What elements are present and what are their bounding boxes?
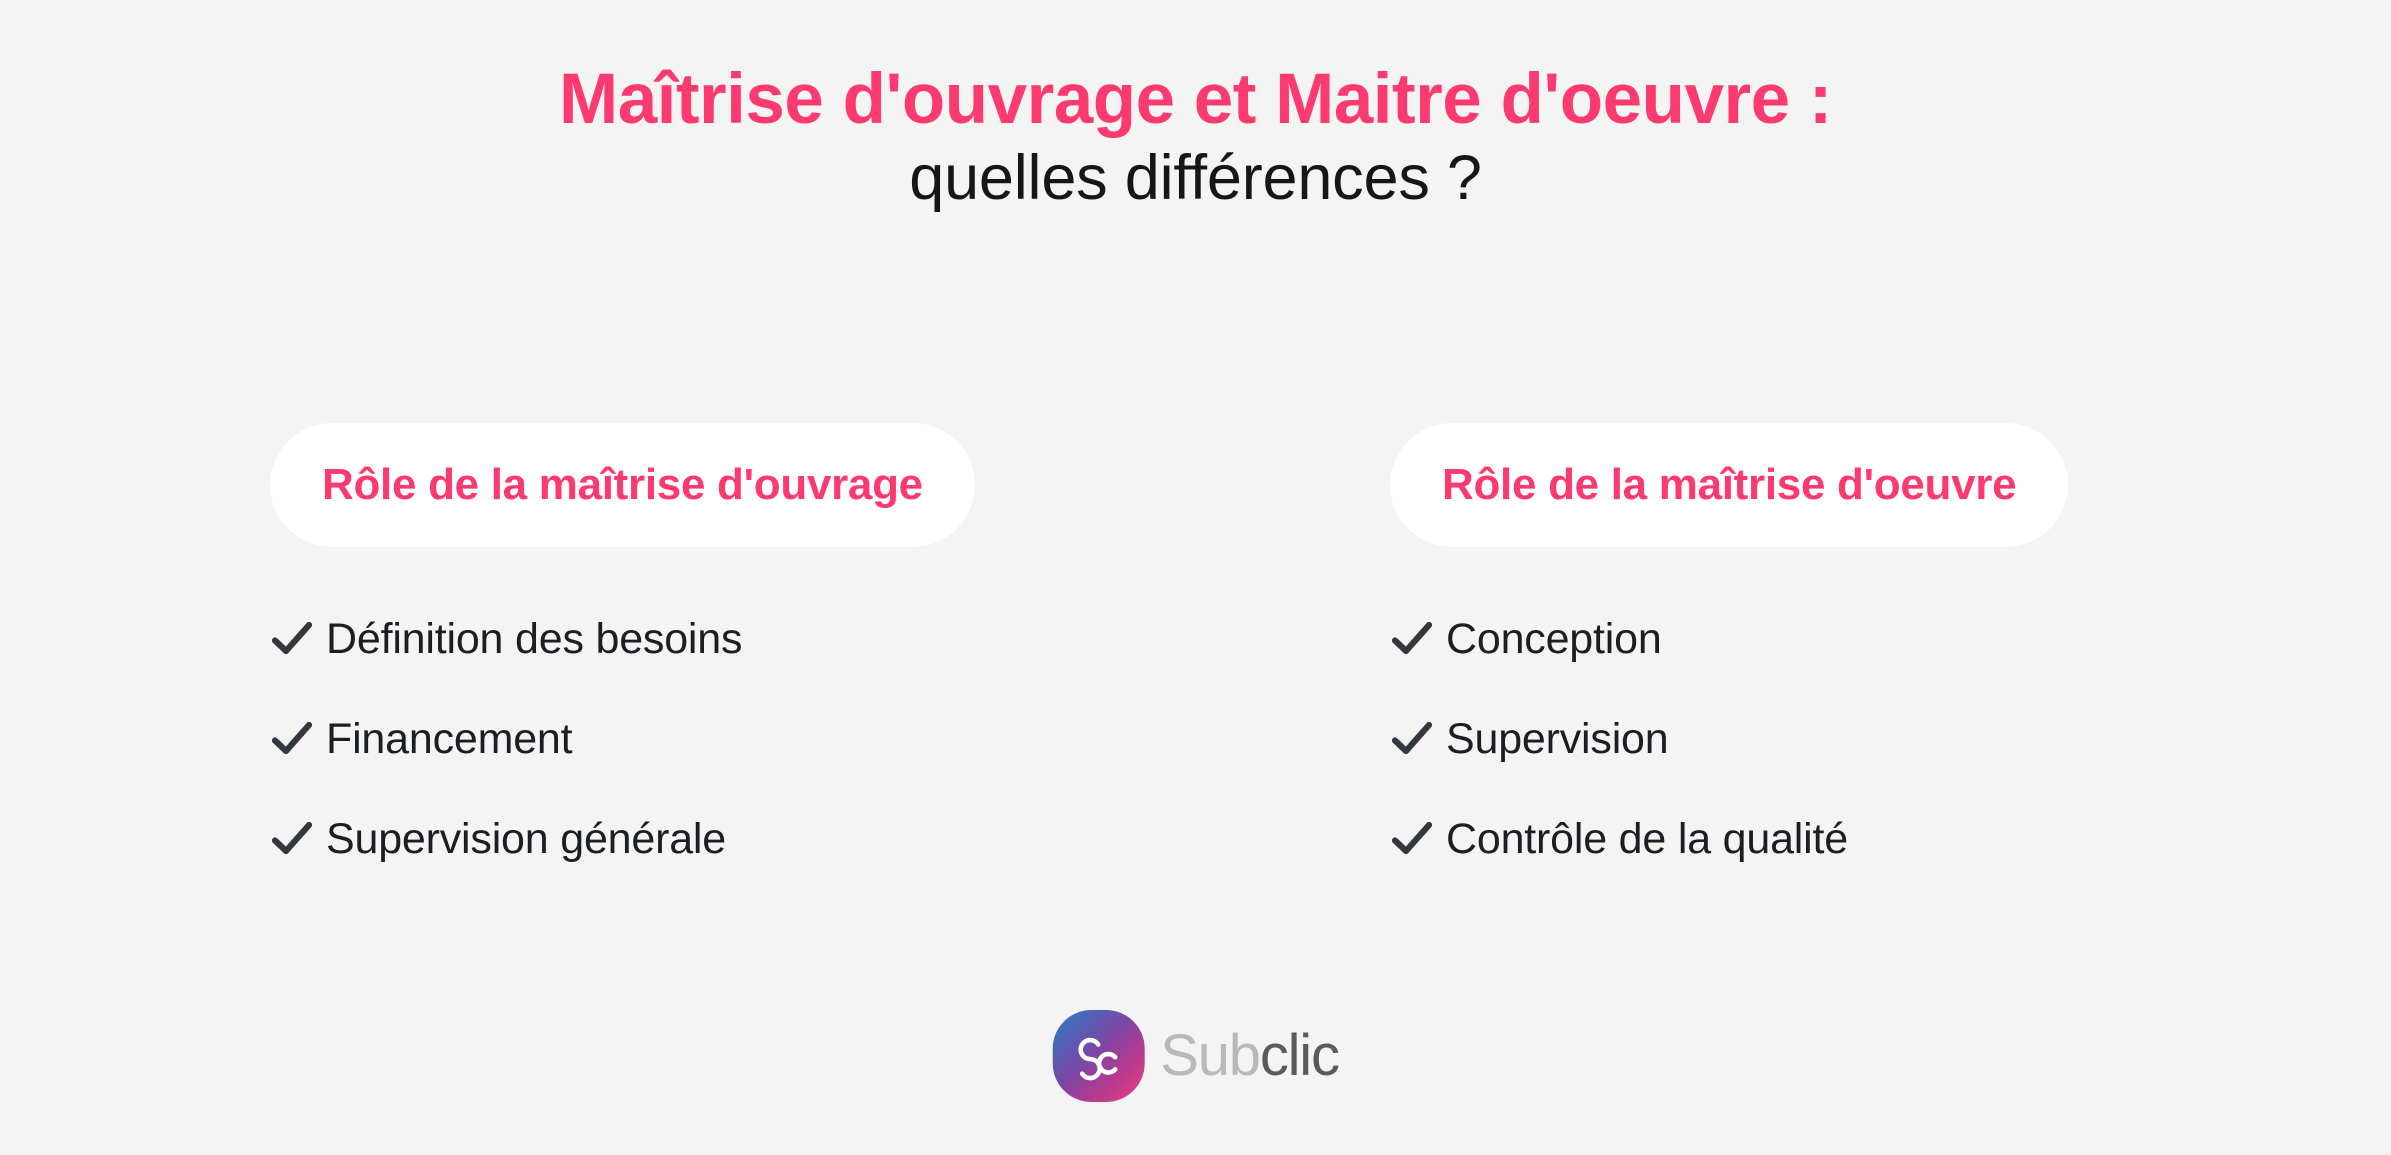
list-item: Financement xyxy=(270,711,1170,767)
column-maitrise-oeuvre: Rôle de la maîtrise d'oeuvre Conception … xyxy=(1390,423,2290,867)
wordmark-sub: Sub xyxy=(1160,1027,1260,1085)
list-item-label: Financement xyxy=(326,718,572,761)
check-icon xyxy=(270,817,314,861)
subclic-sc-monogram-icon xyxy=(1052,1010,1144,1102)
subclic-logo[interactable]: Subclic xyxy=(1052,1010,1339,1102)
list-item-label: Conception xyxy=(1446,618,1662,661)
checklist-maitrise-oeuvre: Conception Supervision Contrôle de la qu… xyxy=(1390,611,2290,867)
check-icon xyxy=(270,717,314,761)
title-line-1: Maîtrise d'ouvrage et Maitre d'oeuvre : xyxy=(0,62,2391,137)
wordmark-clic: clic xyxy=(1260,1027,1339,1085)
check-icon xyxy=(1390,717,1434,761)
checklist-maitrise-ouvrage: Définition des besoins Financement Super… xyxy=(270,611,1170,867)
comparison-columns: Rôle de la maîtrise d'ouvrage Définition… xyxy=(0,423,2391,893)
page-title: Maîtrise d'ouvrage et Maitre d'oeuvre : … xyxy=(0,62,2391,220)
list-item: Définition des besoins xyxy=(270,611,1170,667)
list-item: Conception xyxy=(1390,611,2290,667)
subclic-wordmark: Subclic xyxy=(1160,1027,1339,1085)
pill-label: Rôle de la maîtrise d'oeuvre xyxy=(1442,463,2016,507)
list-item-label: Supervision xyxy=(1446,718,1668,761)
list-item: Supervision générale xyxy=(270,811,1170,867)
infographic-canvas: Maîtrise d'ouvrage et Maitre d'oeuvre : … xyxy=(0,0,2391,1155)
column-maitrise-ouvrage: Rôle de la maîtrise d'ouvrage Définition… xyxy=(270,423,1170,867)
title-colon: : xyxy=(1790,60,1832,139)
check-icon xyxy=(1390,617,1434,661)
list-item-label: Contrôle de la qualité xyxy=(1446,818,1848,861)
list-item-label: Définition des besoins xyxy=(326,618,742,661)
pill-label: Rôle de la maîtrise d'ouvrage xyxy=(322,463,923,507)
title-line-2: quelles différences ? xyxy=(0,137,2391,220)
list-item-label: Supervision générale xyxy=(326,818,726,861)
pill-maitrise-oeuvre[interactable]: Rôle de la maîtrise d'oeuvre xyxy=(1390,423,2068,547)
check-icon xyxy=(270,617,314,661)
title-line-1-text: Maîtrise d'ouvrage et Maitre d'oeuvre xyxy=(559,60,1790,139)
list-item: Supervision xyxy=(1390,711,2290,767)
list-item: Contrôle de la qualité xyxy=(1390,811,2290,867)
check-icon xyxy=(1390,817,1434,861)
pill-maitrise-ouvrage[interactable]: Rôle de la maîtrise d'ouvrage xyxy=(270,423,975,547)
